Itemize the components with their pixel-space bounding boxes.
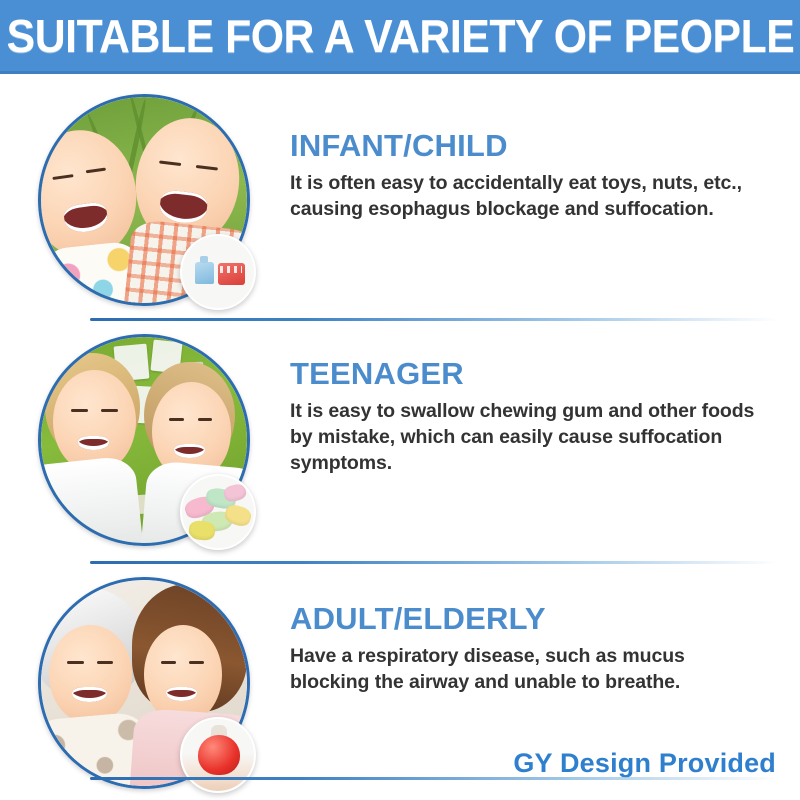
smiling-mouth-icon <box>78 436 109 450</box>
header-banner: SUITABLE FOR A VARIETY OF PEOPLE <box>0 0 800 74</box>
section-body: It is easy to swallow chewing gum and ot… <box>290 399 760 477</box>
smiling-mouth-icon <box>158 189 209 225</box>
text-block-teenager: TEENAGER It is easy to swallow chewing g… <box>290 358 760 477</box>
eye-icon <box>101 409 117 412</box>
inset-red-suction-device <box>180 717 256 793</box>
eye-icon <box>158 160 181 166</box>
eye-icon <box>97 661 113 664</box>
blue-toy-block-icon <box>195 262 214 284</box>
photo-two-teen-girls-in-classroom <box>38 334 250 546</box>
smiling-mouth-icon <box>72 687 107 703</box>
eye-icon <box>161 661 176 664</box>
section-teenager: TEENAGER It is easy to swallow chewing g… <box>0 322 800 565</box>
section-body: It is often easy to accidentally eat toy… <box>290 171 760 223</box>
footer-divider <box>90 777 800 780</box>
section-heading: TEENAGER <box>290 358 760 390</box>
teen-girl-a-face <box>53 370 135 473</box>
section-heading: INFANT/CHILD <box>290 130 760 162</box>
section-divider <box>90 561 800 564</box>
inset-content <box>182 719 254 791</box>
inset-content <box>182 236 254 308</box>
watermark-text: GY Design Provided <box>513 748 776 779</box>
inset-toy-blocks <box>180 234 256 310</box>
infographic-page: SUITABLE FOR A VARIETY OF PEOPLE <box>0 0 800 800</box>
eye-icon <box>195 164 218 170</box>
eye-icon <box>85 167 106 173</box>
candy-piece-icon <box>222 482 247 503</box>
teen-girl-a-polo-shirt <box>41 455 144 543</box>
section-divider <box>90 318 800 321</box>
text-block-infant-child: INFANT/CHILD It is often easy to acciden… <box>290 130 760 223</box>
inset-content <box>182 476 254 548</box>
smiling-mouth-icon <box>62 201 108 235</box>
elderly-woman-face <box>49 625 131 724</box>
smiling-mouth-icon <box>174 444 205 459</box>
eye-icon <box>169 418 184 421</box>
page-title: SUITABLE FOR A VARIETY OF PEOPLE <box>6 13 794 59</box>
section-heading: ADULT/ELDERLY <box>290 603 760 635</box>
section-infant-child: INFANT/CHILD It is often easy to acciden… <box>0 82 800 322</box>
eye-icon <box>71 409 87 412</box>
inset-chewing-gum-candy <box>180 474 256 550</box>
red-bulb-icon <box>198 735 240 775</box>
red-toy-block-icon <box>218 263 245 285</box>
photo-elderly-woman-and-adult-woman <box>38 577 250 789</box>
photo-two-laughing-children-on-grass <box>38 94 250 306</box>
section-body: Have a respiratory disease, such as mucu… <box>290 644 760 696</box>
eye-icon <box>189 661 204 664</box>
adult-woman-face <box>144 625 222 724</box>
eye-icon <box>67 661 83 664</box>
eye-icon <box>198 418 213 421</box>
text-block-adult-elderly: ADULT/ELDERLY Have a respiratory disease… <box>290 603 760 696</box>
eye-icon <box>52 174 74 180</box>
smiling-mouth-icon <box>166 687 197 702</box>
